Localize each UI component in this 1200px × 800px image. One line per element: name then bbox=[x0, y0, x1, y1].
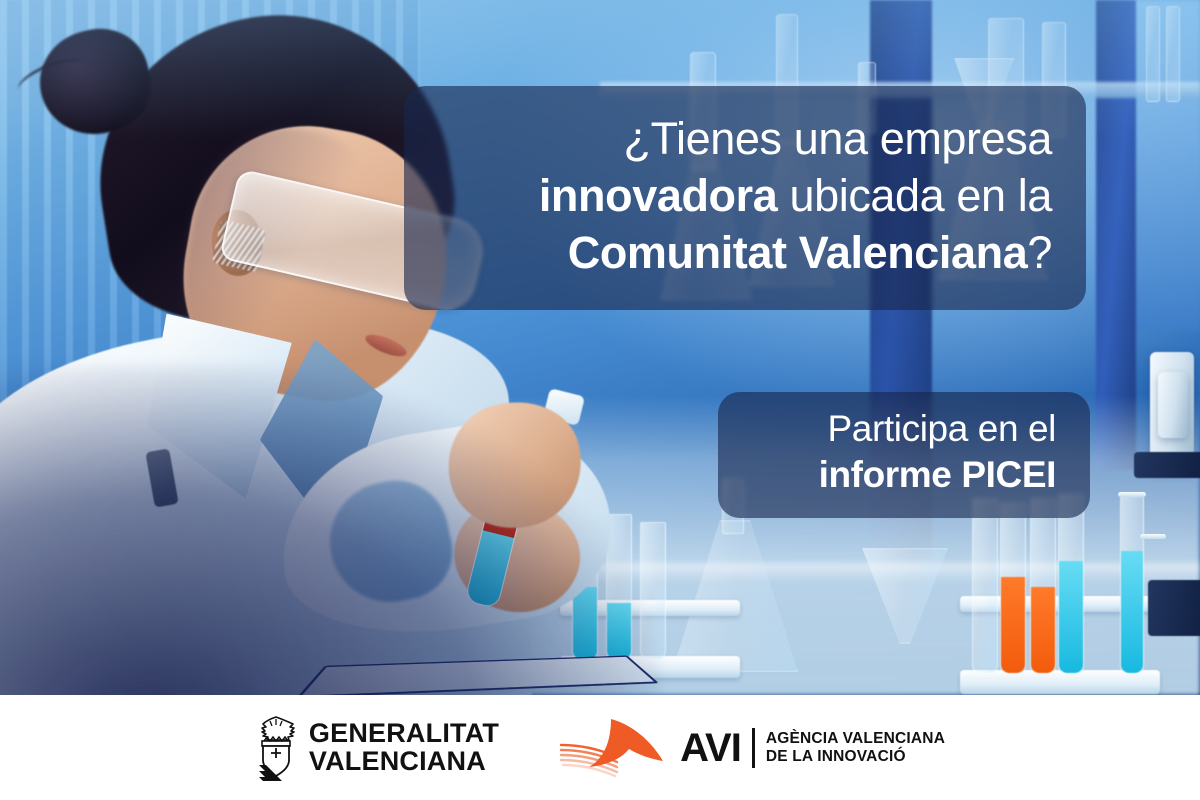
test-tube-right-2 bbox=[1000, 502, 1026, 674]
test-tube-right-1 bbox=[972, 498, 998, 674]
headline-panel: ¿Tienes una empresa innovadora ubicada e… bbox=[404, 86, 1086, 310]
microscope-stage bbox=[1134, 452, 1200, 478]
callout-panel: Participa en el informe PICEI bbox=[718, 392, 1090, 518]
avi-subtitle: AGÈNCIA VALENCIANA DE LA INNOVACIÓ bbox=[766, 730, 945, 765]
headline-line3-text: ? bbox=[1027, 227, 1052, 278]
avi-wordmark: AVI bbox=[680, 728, 741, 768]
avi-logo[interactable]: AVI AGÈNCIA VALENCIANA DE LA INNOVACIÓ bbox=[559, 715, 945, 781]
avi-subtitle-line-1: AGÈNCIA VALENCIANA bbox=[766, 730, 945, 747]
promotional-banner: ¿Tienes una empresa innovadora ubicada e… bbox=[0, 0, 1200, 800]
headline-line-1: ¿Tienes una empresa bbox=[438, 110, 1052, 167]
test-tube-right-4 bbox=[1058, 494, 1084, 674]
generalitat-valenciana-logo[interactable]: GENERALITAT VALENCIANA bbox=[255, 715, 499, 781]
headline-innovadora-bold: innovadora bbox=[539, 170, 778, 221]
microscope-objective bbox=[1158, 372, 1188, 438]
callout-informe-picei-bold: informe PICEI bbox=[819, 454, 1056, 495]
callout-line1-text: Participa en el bbox=[828, 408, 1056, 449]
senyera-crown-bat-shield-icon bbox=[255, 715, 297, 781]
generalitat-wordmark: GENERALITAT VALENCIANA bbox=[309, 720, 499, 775]
microscope-base bbox=[1148, 580, 1200, 636]
generalitat-line-2: VALENCIANA bbox=[309, 748, 499, 776]
tube-cap-1 bbox=[1118, 492, 1146, 497]
avi-subtitle-line-2: DE LA INNOVACIÓ bbox=[766, 748, 945, 765]
test-tube-right-3 bbox=[1030, 498, 1056, 674]
tube-cap-2 bbox=[1140, 534, 1166, 539]
footer-logo-bar: GENERALITAT VALENCIANA bbox=[0, 695, 1200, 800]
test-tube-right-5 bbox=[1120, 496, 1144, 674]
avi-divider bbox=[752, 728, 755, 768]
headline-line-3: Comunitat Valenciana? bbox=[438, 224, 1052, 281]
dark-vignette-bottom-left bbox=[0, 365, 660, 695]
avi-orange-wing-swoosh-icon bbox=[559, 715, 671, 781]
headline-line1-text: ¿Tienes una empresa bbox=[624, 113, 1052, 164]
generalitat-line-1: GENERALITAT bbox=[309, 720, 499, 748]
headline-line-2: innovadora ubicada en la bbox=[438, 167, 1052, 224]
callout-line-2: informe PICEI bbox=[752, 452, 1056, 498]
callout-line-1: Participa en el bbox=[752, 406, 1056, 452]
headline-line2-text: ubicada en la bbox=[777, 170, 1052, 221]
headline-comunitat-bold: Comunitat Valenciana bbox=[568, 227, 1028, 278]
